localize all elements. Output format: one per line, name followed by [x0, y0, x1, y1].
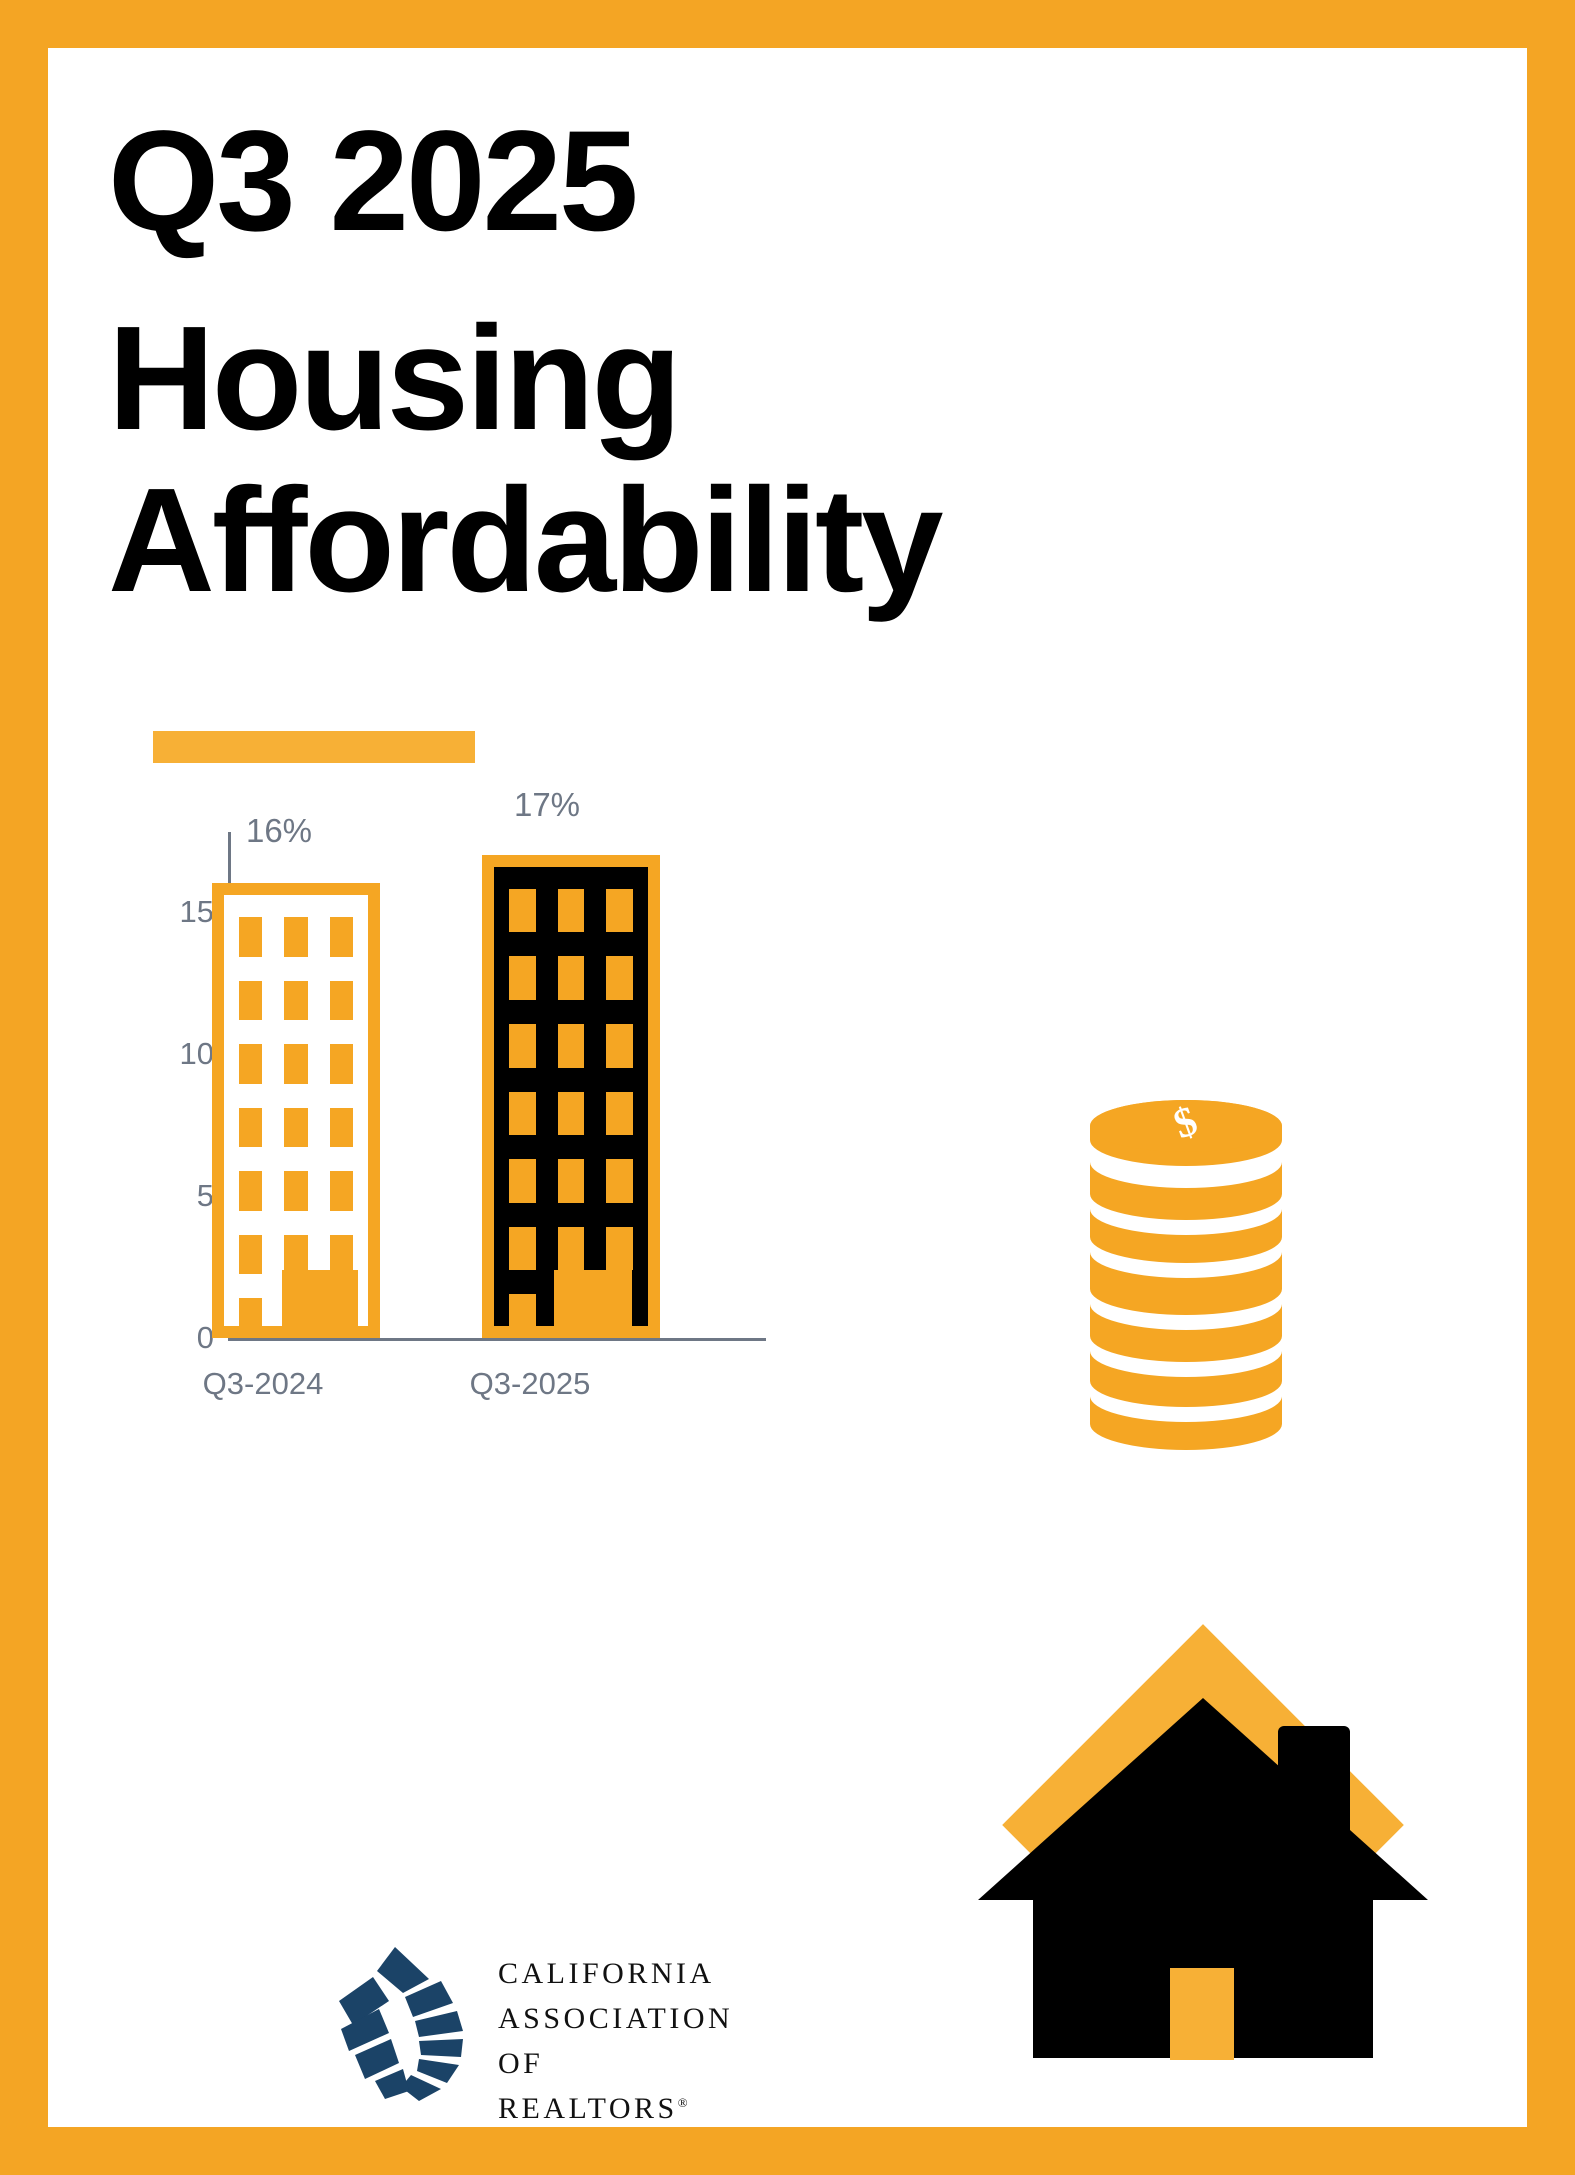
window [239, 1044, 262, 1084]
window [509, 1294, 536, 1338]
window [558, 889, 585, 933]
y-tick-label-0: 0 [110, 1322, 214, 1353]
chart-x-axis-line [228, 1338, 766, 1341]
window [606, 1092, 633, 1136]
bar-q3-2024[interactable] [212, 883, 380, 1338]
window [558, 1159, 585, 1203]
window [330, 1235, 353, 1275]
window [330, 1044, 353, 1084]
title-block: Q3 2025 Housing Affordability [108, 110, 1108, 615]
bar-value-label-q3-2025: 17% [432, 786, 662, 824]
x-tick-label-q3-2024: Q3-2024 [148, 1366, 378, 1402]
page-title-line2: Affordability [108, 467, 1108, 615]
page-title-line1: Housing [108, 305, 1108, 453]
window [509, 889, 536, 933]
building-windows-q3-2025 [482, 855, 660, 1338]
house-door [1170, 1968, 1234, 2060]
window [330, 981, 353, 1021]
window [284, 981, 307, 1021]
house-icon [973, 1538, 1433, 2098]
bar-value-label-q3-2024: 16% [164, 812, 394, 850]
y-tick-label-10: 10 [110, 1038, 214, 1069]
poster-canvas: Q3 2025 Housing Affordability 15 10 5 0 … [48, 48, 1527, 2127]
window [330, 1108, 353, 1148]
x-tick-label-q3-2025: Q3-2025 [415, 1366, 645, 1402]
logo-line-2: ASSOCIATION [498, 1996, 733, 2041]
window [558, 1092, 585, 1136]
logo-line-1: CALIFORNIA [498, 1951, 733, 1996]
window [509, 1092, 536, 1136]
window [330, 1171, 353, 1211]
y-tick-label-15: 15 [110, 896, 214, 927]
window [558, 1227, 585, 1271]
window [558, 956, 585, 1000]
bar-q3-2025[interactable] [482, 855, 660, 1338]
coin-stack-icon: $ [1086, 1066, 1286, 1456]
window [239, 1298, 262, 1338]
window [606, 956, 633, 1000]
car-logo-wordmark: CALIFORNIA ASSOCIATION OF REALTORS® [498, 1951, 733, 2131]
window [509, 956, 536, 1000]
car-logo-mark [333, 1941, 493, 2101]
page-title-quarter: Q3 2025 [108, 110, 1108, 253]
window [606, 1159, 633, 1203]
house-chimney [1278, 1726, 1350, 1846]
window [509, 1227, 536, 1271]
window [239, 917, 262, 957]
affordability-bar-chart: 15 10 5 0 16% 17% [110, 818, 730, 1418]
window [284, 917, 307, 957]
window [509, 1024, 536, 1068]
logo-line-3: OF REALTORS® [498, 2041, 733, 2131]
window [606, 1227, 633, 1271]
window [284, 1171, 307, 1211]
window [239, 981, 262, 1021]
window [239, 1171, 262, 1211]
window [558, 1024, 585, 1068]
window [239, 1108, 262, 1148]
window [330, 917, 353, 957]
window [239, 1235, 262, 1275]
building-door-q3-2025 [554, 1270, 632, 1326]
window [284, 1044, 307, 1084]
window [509, 1159, 536, 1203]
window [606, 889, 633, 933]
window [606, 1024, 633, 1068]
y-tick-label-5: 5 [110, 1180, 214, 1211]
accent-underline [153, 731, 475, 763]
building-door-q3-2024 [282, 1270, 358, 1326]
window [284, 1235, 307, 1275]
registered-mark: ® [678, 2095, 688, 2110]
window [284, 1108, 307, 1148]
logo-line-3-text: OF REALTORS [498, 2047, 678, 2125]
california-association-of-realtors-logo: CALIFORNIA ASSOCIATION OF REALTORS® [333, 1933, 733, 2123]
poster-frame: Q3 2025 Housing Affordability 15 10 5 0 … [0, 0, 1575, 2175]
